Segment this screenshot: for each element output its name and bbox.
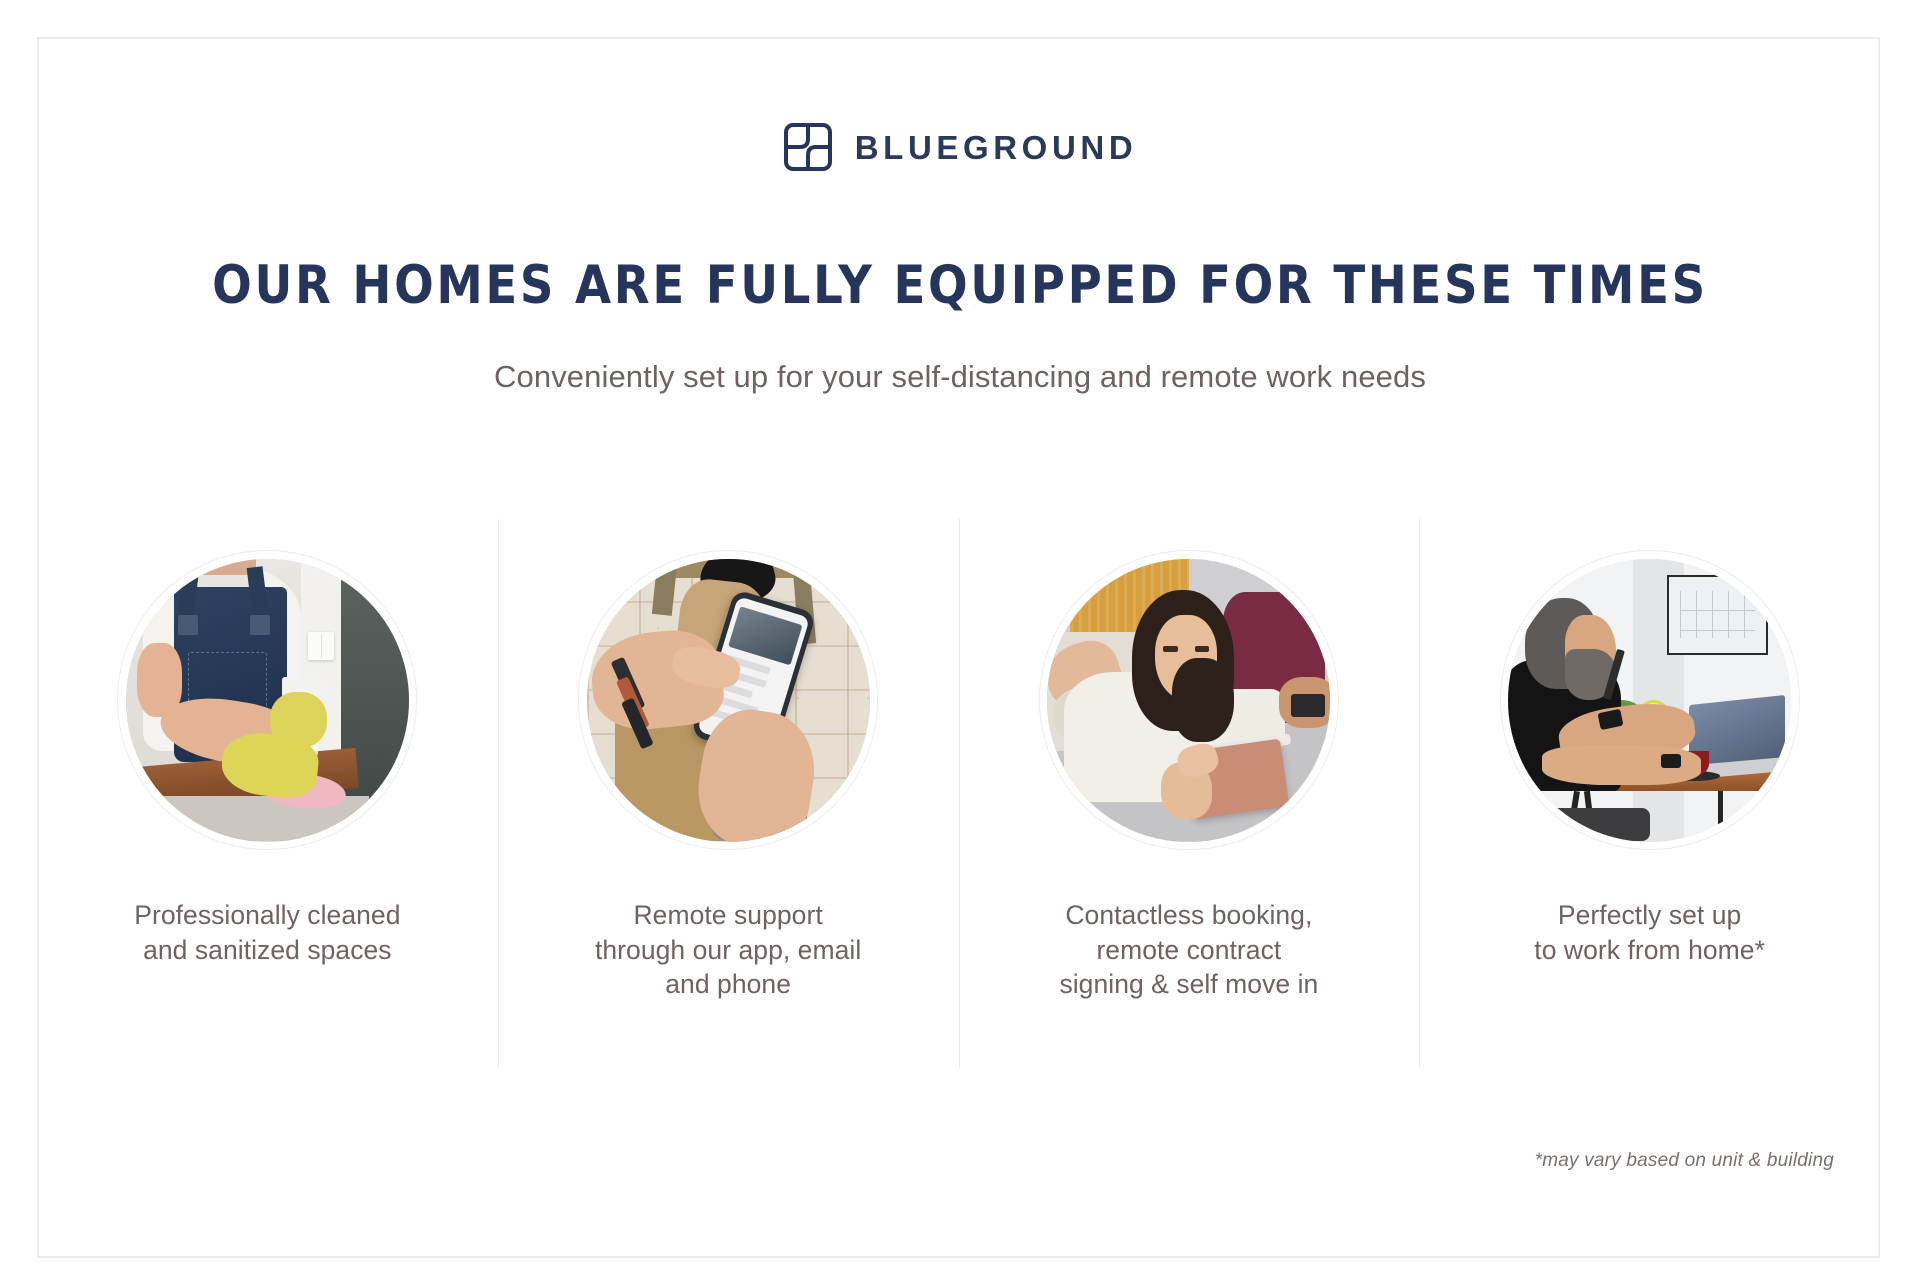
feature-photo-ring xyxy=(1500,550,1800,850)
feature-photo-ring xyxy=(1039,550,1339,850)
page-subtitle: Conveniently set up for your self-distan… xyxy=(0,358,1920,395)
page-title: OUR HOMES ARE FULLY EQUIPPED FOR THESE T… xyxy=(115,258,1805,314)
brand-logo: BLUEGROUND xyxy=(0,122,1920,172)
caption-line: Contactless booking, xyxy=(1059,898,1318,933)
feature-column-contactless-booking: Contactless booking, remote contract sig… xyxy=(959,519,1420,1068)
man-working-at-desk-with-laptop-photo xyxy=(1508,559,1791,842)
caption-line: to work from home* xyxy=(1534,933,1765,968)
footnote-disclaimer: *may vary based on unit & building xyxy=(1535,1150,1834,1172)
caption-line: through our app, email xyxy=(595,933,861,968)
feature-caption: Professionally cleaned and sanitized spa… xyxy=(134,898,400,967)
feature-column-cleaning: Professionally cleaned and sanitized spa… xyxy=(37,519,498,1068)
caption-line: and sanitized spaces xyxy=(134,933,400,968)
caption-line: and phone xyxy=(595,967,861,1002)
infographic-page: BLUEGROUND OUR HOMES ARE FULLY EQUIPPED … xyxy=(0,0,1920,1280)
feature-caption: Perfectly set up to work from home* xyxy=(1534,898,1765,967)
woman-on-bed-with-tablet-photo xyxy=(1047,559,1330,842)
feature-column-remote-support: Remote support through our app, email an… xyxy=(498,519,959,1068)
caption-line: Perfectly set up xyxy=(1534,898,1765,933)
hands-using-phone-app-photo xyxy=(587,559,870,842)
blueground-square-logo-icon xyxy=(783,122,833,172)
feature-caption: Contactless booking, remote contract sig… xyxy=(1059,898,1318,1002)
feature-columns: Professionally cleaned and sanitized spa… xyxy=(37,519,1880,1068)
brand-wordmark: BLUEGROUND xyxy=(855,131,1138,164)
caption-line: Professionally cleaned xyxy=(134,898,400,933)
feature-column-work-from-home: Perfectly set up to work from home* xyxy=(1419,519,1880,1068)
feature-photo-ring xyxy=(117,550,417,850)
cleaner-wiping-counter-photo xyxy=(126,559,409,842)
caption-line: remote contract xyxy=(1059,933,1318,968)
caption-line: signing & self move in xyxy=(1059,967,1318,1002)
feature-photo-ring xyxy=(578,550,878,850)
caption-line: Remote support xyxy=(595,898,861,933)
feature-caption: Remote support through our app, email an… xyxy=(595,898,861,1002)
